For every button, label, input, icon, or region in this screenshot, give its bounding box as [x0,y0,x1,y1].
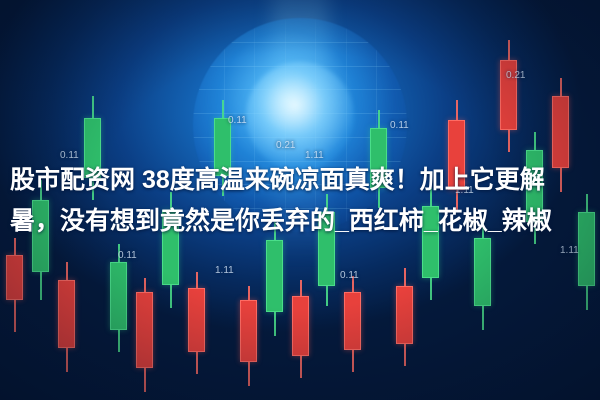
headline-text: 股市配资网 38度高温来碗凉面真爽！加上它更解 暑，没有想到竟然是你丢弃的_西红… [0,160,600,242]
promotional-banner-image: 0.110.210.111.110.110.211.111.111.110.11… [0,0,600,400]
headline-line-2: 暑，没有想到竟然是你丢弃的_西红柿_花椒_辣椒 [10,201,590,242]
headline-line-1: 股市配资网 38度高温来碗凉面真爽！加上它更解 [10,160,590,201]
